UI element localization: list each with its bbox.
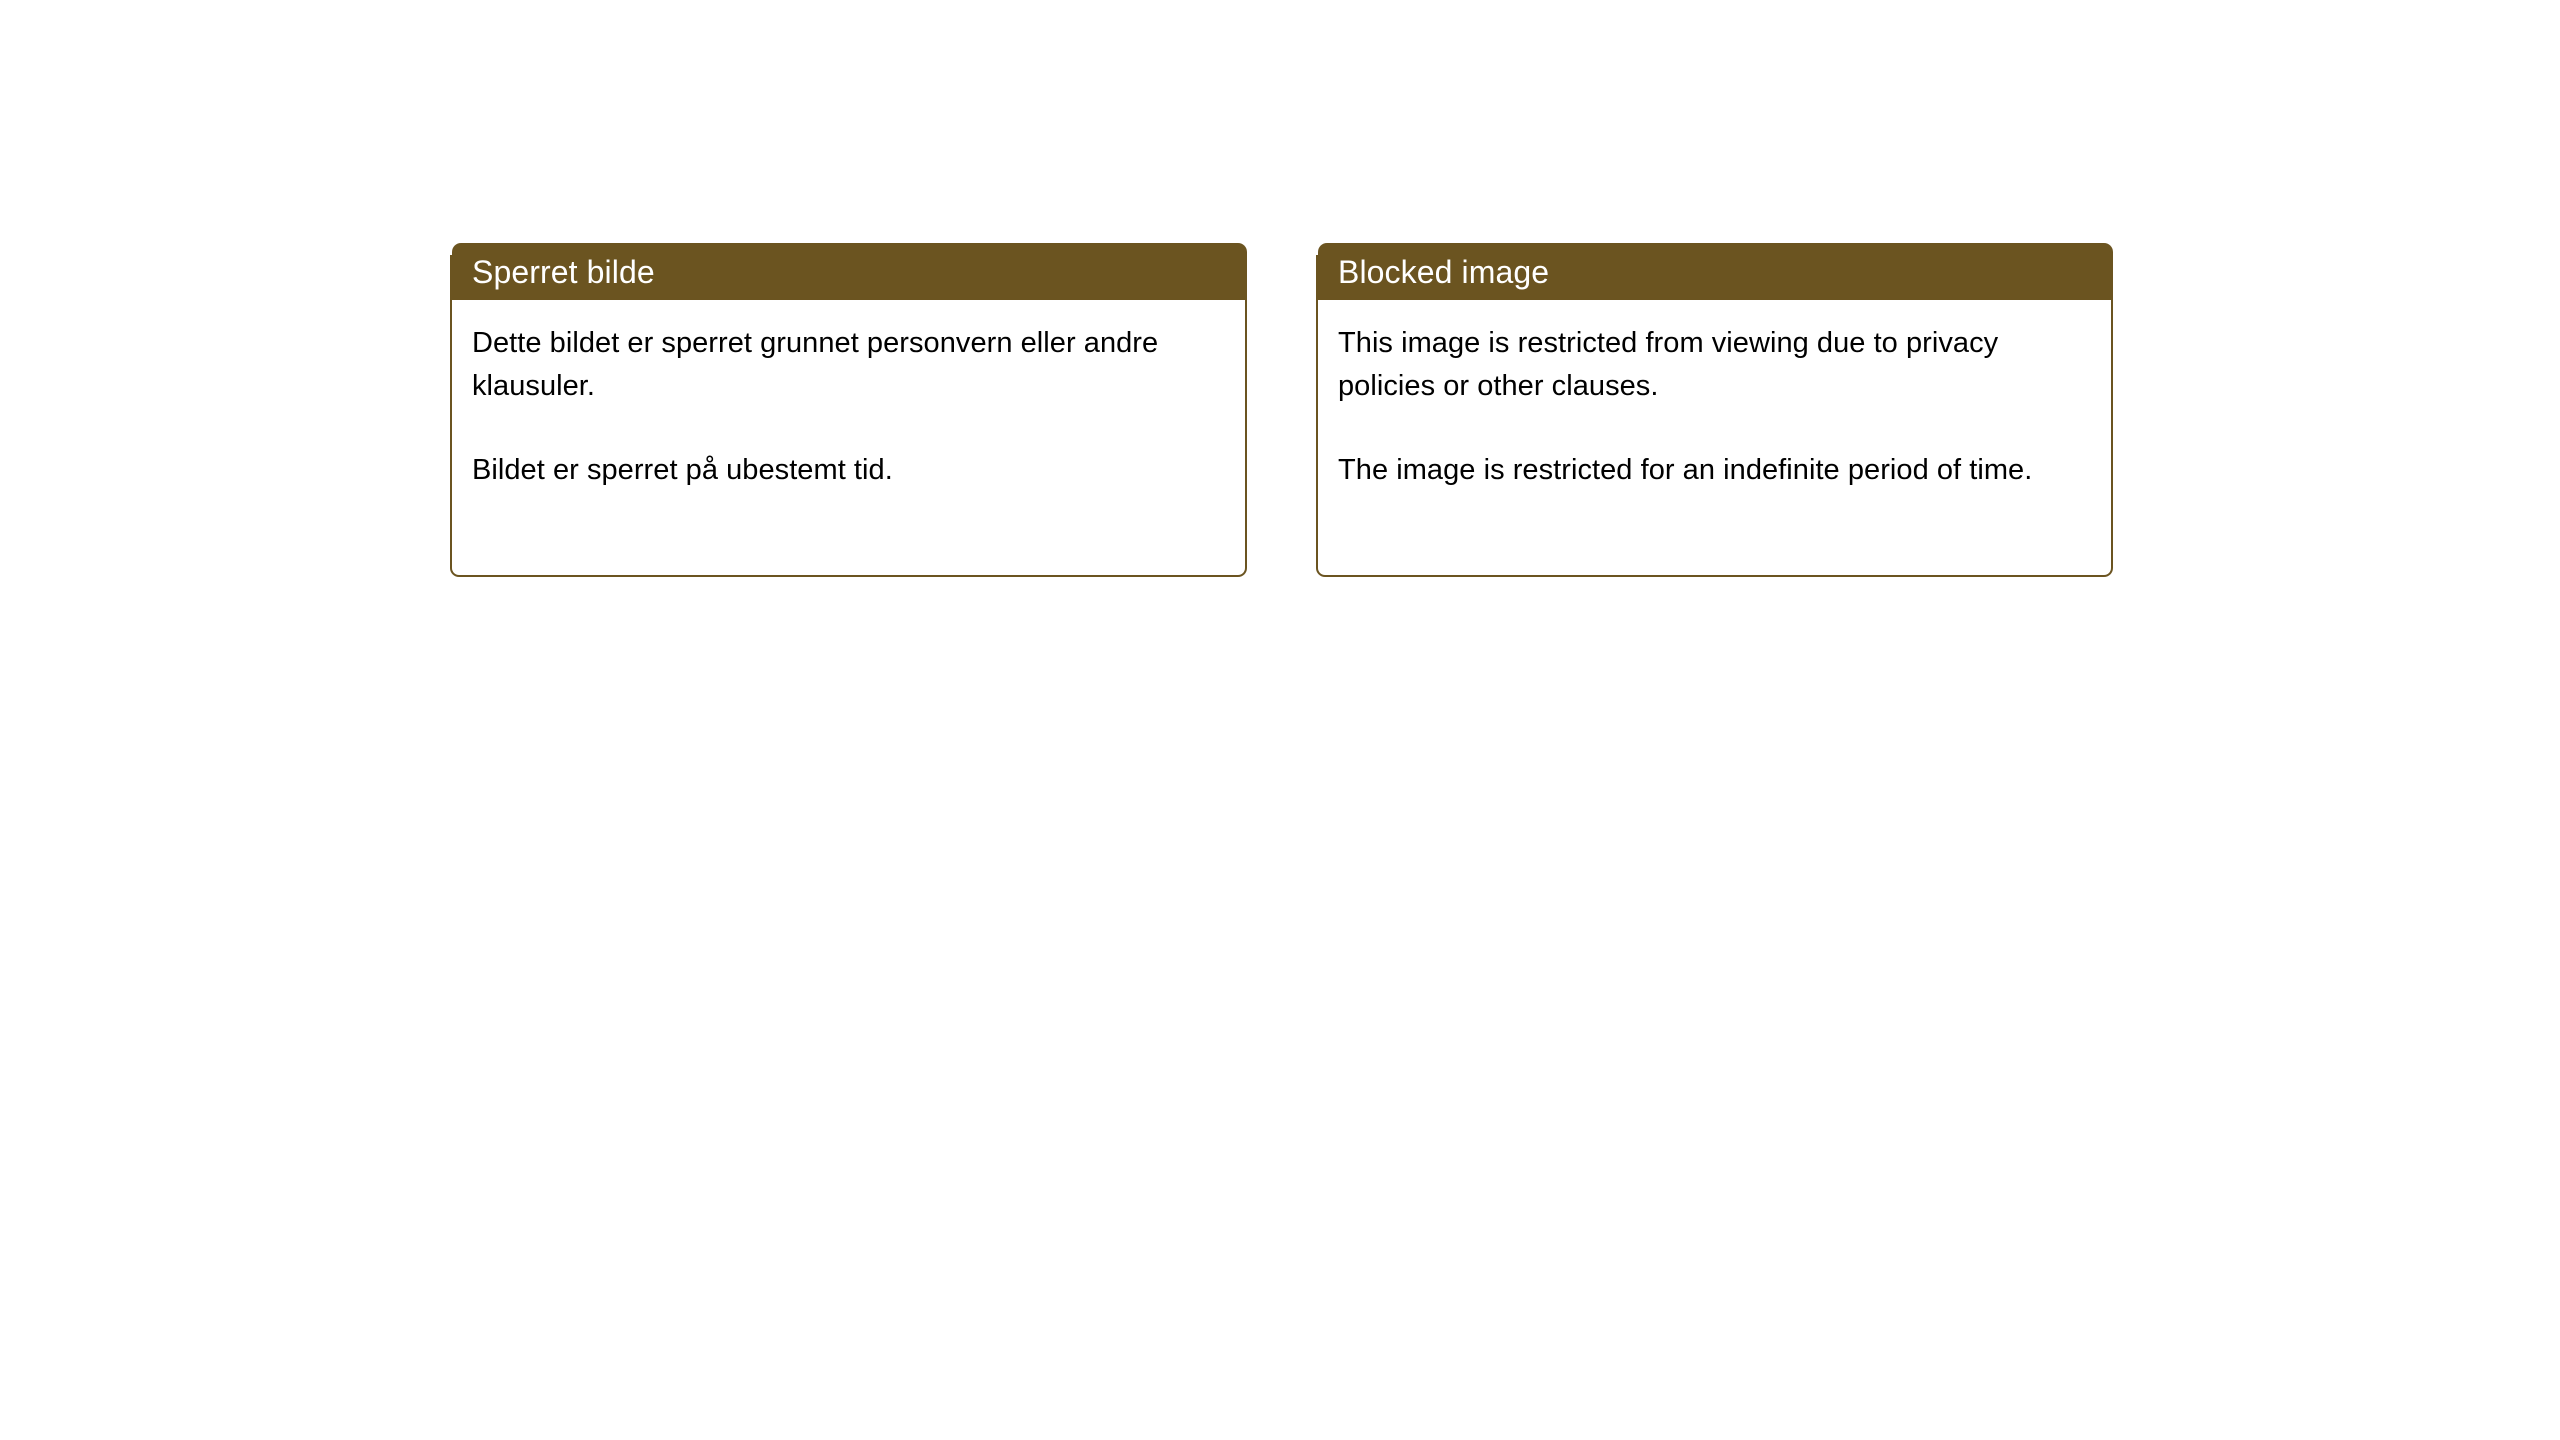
panel-title-no: Sperret bilde [472, 255, 655, 289]
panel-paragraph-no-2: Bildet er sperret på ubestemt tid. [472, 449, 1225, 492]
panel-header-no: Sperret bilde [452, 243, 1247, 300]
panel-body-en: This image is restricted from viewing du… [1316, 300, 2113, 577]
panel-left-edge-accent [450, 255, 452, 303]
panel-left-edge-accent [1316, 255, 1318, 303]
panel-paragraph-en-1: This image is restricted from viewing du… [1338, 322, 2091, 408]
panel-title-en: Blocked image [1338, 255, 1549, 289]
panel-body-no: Dette bildet er sperret grunnet personve… [450, 300, 1247, 577]
panel-paragraph-no-1: Dette bildet er sperret grunnet personve… [472, 322, 1225, 408]
blocked-image-notice-group: Sperret bilde Dette bildet er sperret gr… [450, 243, 2113, 577]
page-canvas: Sperret bilde Dette bildet er sperret gr… [0, 0, 2560, 1440]
panel-paragraph-en-2: The image is restricted for an indefinit… [1338, 449, 2091, 492]
panel-header-en: Blocked image [1318, 243, 2113, 300]
blocked-image-notice-no: Sperret bilde Dette bildet er sperret gr… [450, 243, 1247, 577]
blocked-image-notice-en: Blocked image This image is restricted f… [1316, 243, 2113, 577]
